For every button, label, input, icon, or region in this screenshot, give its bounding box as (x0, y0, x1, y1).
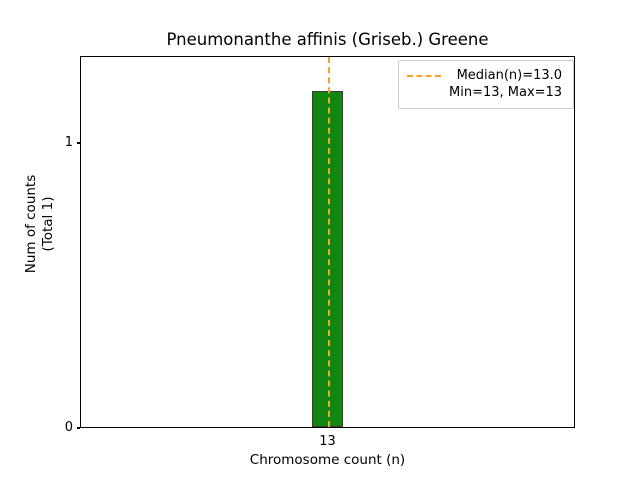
legend-entry-minmax: Min=13, Max=13 (449, 84, 562, 101)
ytick-label-1: 1 (65, 134, 73, 152)
legend[interactable]: Median(n)=13.0 Min=13, Max=13 (398, 60, 574, 109)
plot-area (80, 56, 575, 428)
xtick-label-13: 13 (288, 434, 368, 450)
xtick-mark-13 (327, 56, 328, 57)
x-axis-label: Chromosome count (n) (80, 452, 575, 469)
median-line (328, 57, 330, 427)
legend-entry-median: Median(n)=13.0 (457, 67, 563, 84)
legend-dashed-line-icon (407, 67, 441, 84)
ytick-label-0: 0 (65, 419, 73, 437)
legend-text-block: Median(n)=13.0 Min=13, Max=13 (449, 67, 562, 101)
chart-figure: Pneumonanthe affinis (Griseb.) Greene 0 … (0, 0, 640, 480)
ytick-outer-mark-1 (77, 142, 81, 143)
ytick-outer-mark-0 (77, 427, 81, 428)
ytick-mark-0 (80, 426, 81, 427)
y-axis-label: Num of counts (Total 1) (23, 74, 57, 374)
page-title: Pneumonanthe affinis (Griseb.) Greene (80, 30, 575, 50)
ytick-mark-1 (80, 90, 81, 91)
